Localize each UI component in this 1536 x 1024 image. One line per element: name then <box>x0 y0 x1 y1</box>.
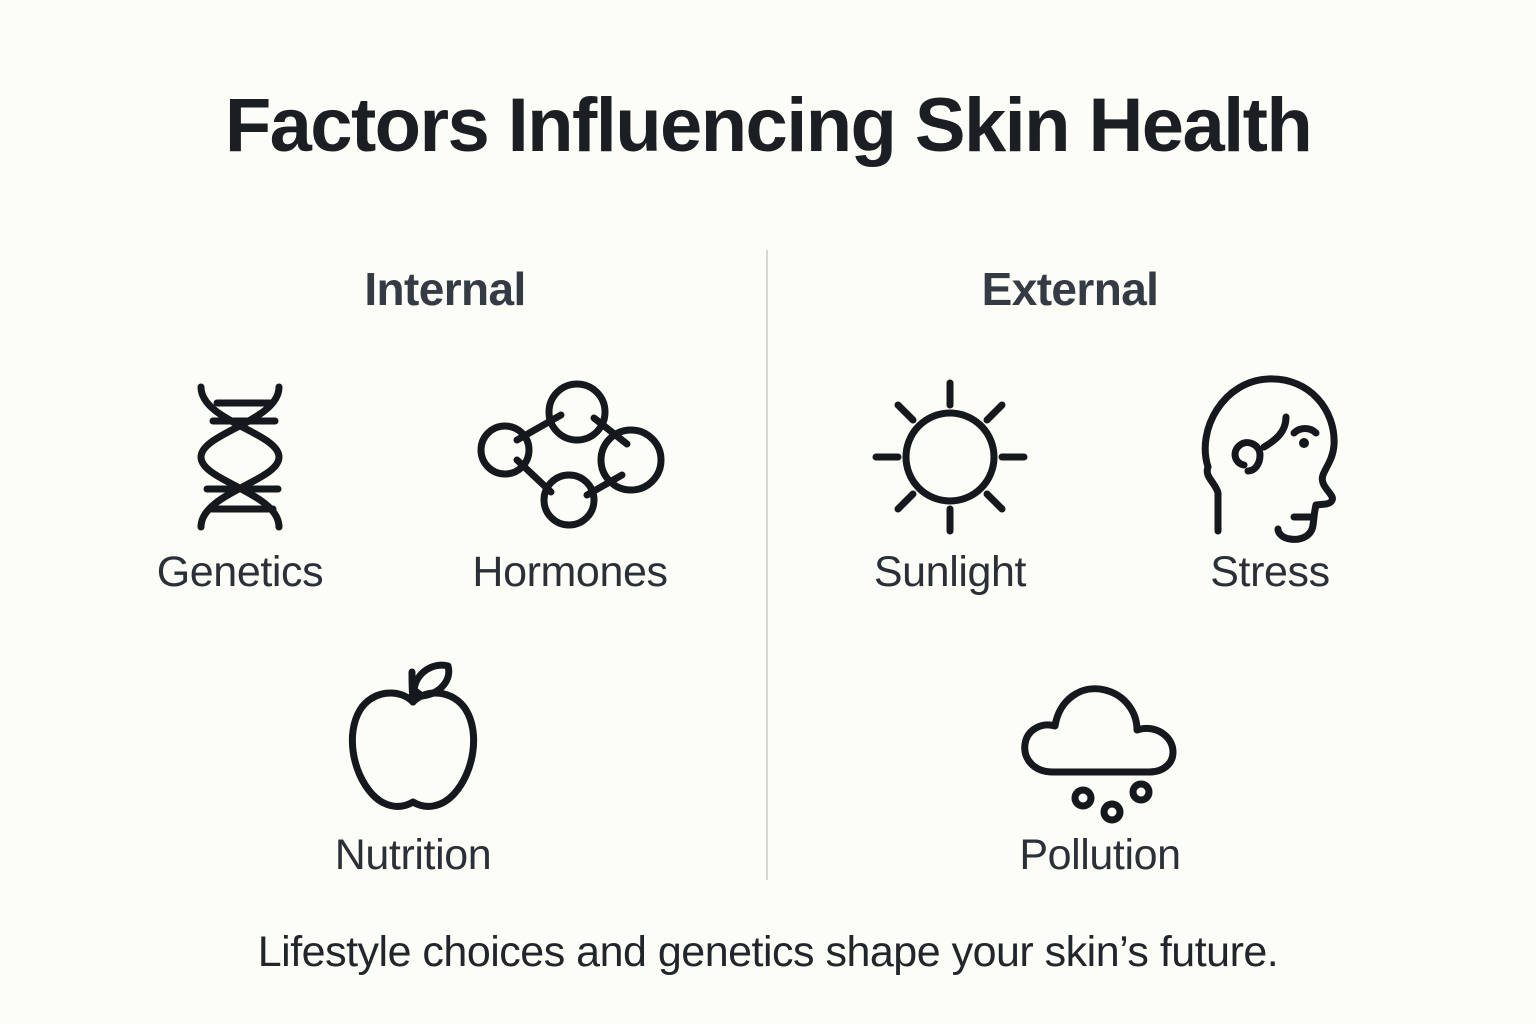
factor-label-stress: Stress <box>1120 548 1420 597</box>
factor-label-genetics: Genetics <box>90 548 390 597</box>
factor-label-sunlight: Sunlight <box>800 548 1100 597</box>
factor-item-pollution[interactable]: Pollution <box>950 655 1250 880</box>
footer-caption: Lifestyle choices and genetics shape you… <box>0 928 1536 977</box>
dna-icon <box>90 372 390 542</box>
sun-icon <box>800 372 1100 542</box>
factor-label-hormones: Hormones <box>420 548 720 597</box>
factor-item-nutrition[interactable]: Nutrition <box>263 655 563 880</box>
factor-item-sunlight[interactable]: Sunlight <box>800 372 1100 597</box>
column-divider <box>766 250 768 880</box>
head-profile-icon <box>1120 372 1420 542</box>
page-title: Factors Influencing Skin Health <box>0 86 1536 166</box>
factor-label-nutrition: Nutrition <box>263 831 563 880</box>
molecule-icon <box>420 372 720 542</box>
column-heading-external: External <box>870 262 1270 316</box>
column-heading-internal: Internal <box>245 262 645 316</box>
pollution-cloud-icon <box>950 655 1250 825</box>
apple-icon <box>263 655 563 825</box>
factor-item-hormones[interactable]: Hormones <box>420 372 720 597</box>
factor-label-pollution: Pollution <box>950 831 1250 880</box>
factor-item-genetics[interactable]: Genetics <box>90 372 390 597</box>
infographic-page: Factors Influencing Skin Health Internal… <box>0 0 1536 1024</box>
factor-item-stress[interactable]: Stress <box>1120 372 1420 597</box>
